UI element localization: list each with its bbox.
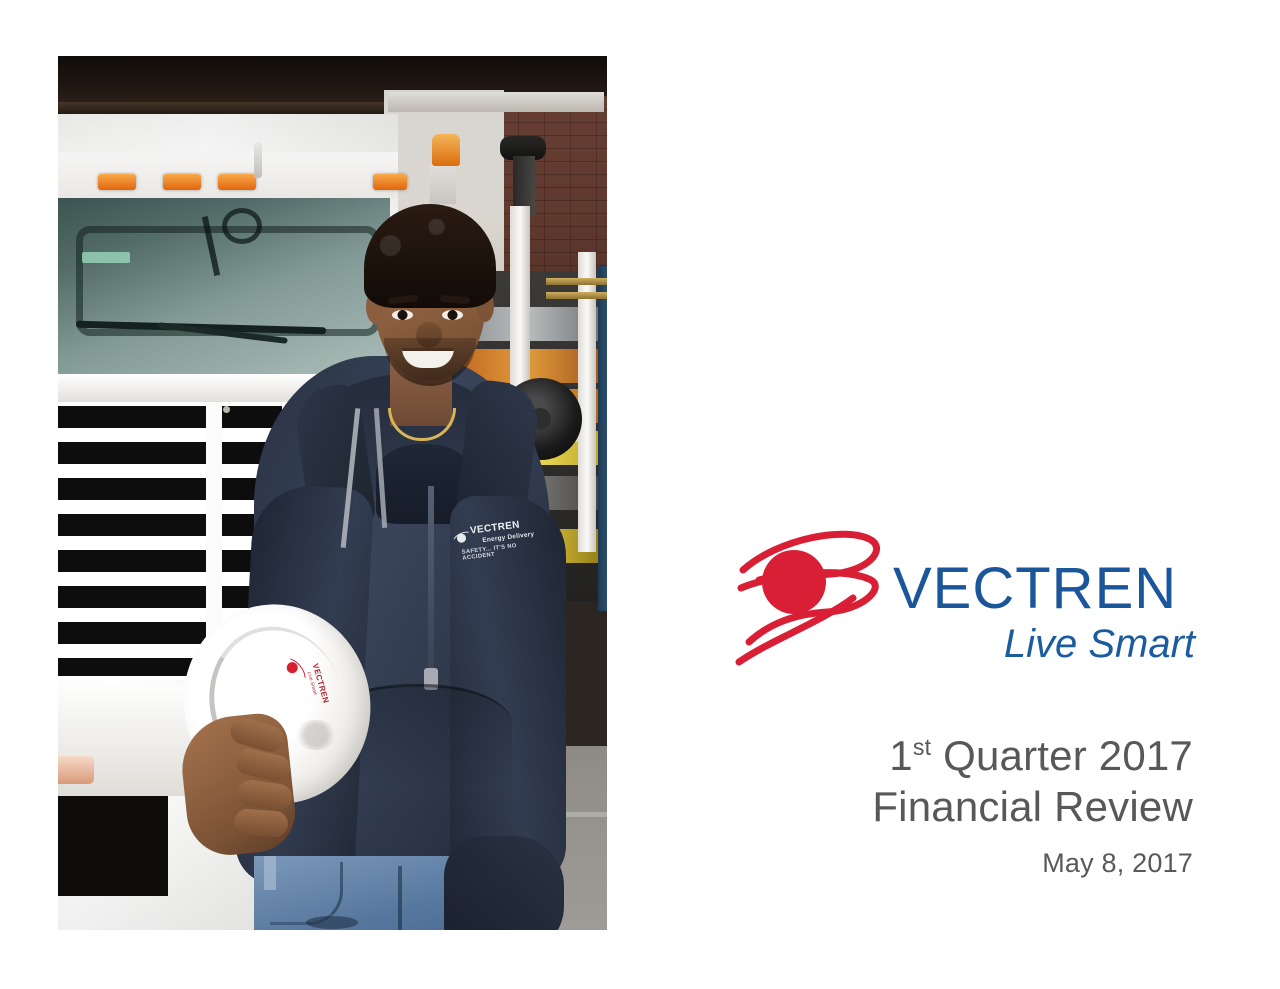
hoodie-zipper xyxy=(428,486,434,676)
right-forearm xyxy=(444,836,564,930)
uniform-safety-slogan: SAFETY... IT'S NO ACCIDENT xyxy=(461,539,549,562)
hero-photo: VECTREN Energy Delivery SAFETY... IT'S N… xyxy=(58,56,607,930)
hard-hat-scuff xyxy=(294,720,338,750)
photo-scene: VECTREN Energy Delivery SAFETY... IT'S N… xyxy=(58,56,607,930)
presentation-title-line1: 1st Quarter 2017 xyxy=(673,730,1193,781)
employee-figure: VECTREN Energy Delivery SAFETY... IT'S N… xyxy=(58,56,607,930)
ordinal-suffix: st xyxy=(913,734,931,760)
title-slide: VECTREN Energy Delivery SAFETY... IT'S N… xyxy=(0,0,1280,989)
eye xyxy=(442,310,463,320)
presentation-title-line2: Financial Review xyxy=(673,781,1193,832)
title-block: 1st Quarter 2017 Financial Review May 8,… xyxy=(673,730,1193,879)
vectren-mark-icon xyxy=(451,531,471,547)
vectren-tagline: Live Smart xyxy=(1004,624,1195,664)
jeans-stain xyxy=(306,916,358,929)
quarter-number: 1 xyxy=(889,732,913,779)
vectren-orbit-logo-icon xyxy=(735,524,887,674)
finger xyxy=(233,808,289,838)
vectren-logo-block: VECTREN Live Smart xyxy=(735,524,1195,684)
hair xyxy=(364,204,496,308)
jeans-seam xyxy=(398,866,402,930)
vectren-wordmark: VECTREN xyxy=(893,560,1177,618)
quarter-label: Quarter 2017 xyxy=(931,732,1193,779)
presentation-date: May 8, 2017 xyxy=(673,848,1193,879)
eye xyxy=(392,310,413,320)
